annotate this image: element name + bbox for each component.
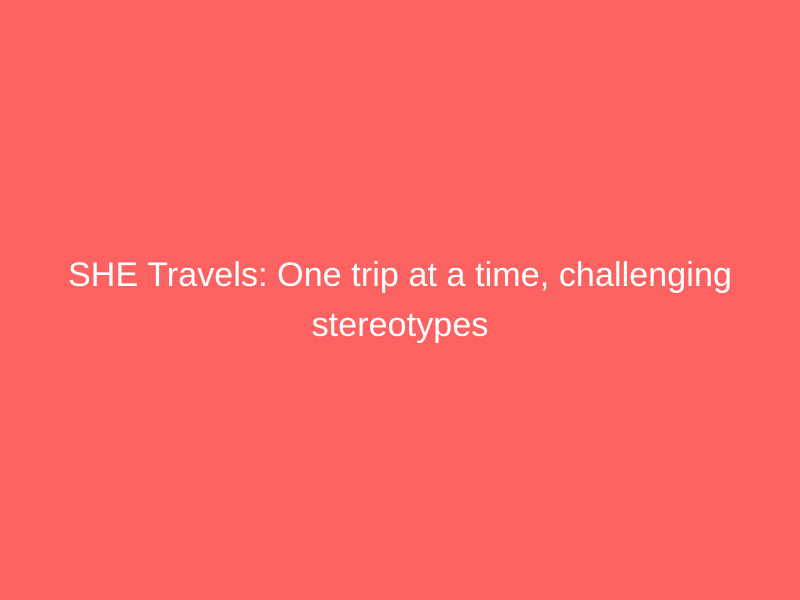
page-title: SHE Travels: One trip at a time, challen… [60,250,740,350]
placeholder-card: SHE Travels: One trip at a time, challen… [0,0,800,600]
headline-block: SHE Travels: One trip at a time, challen… [50,250,750,350]
